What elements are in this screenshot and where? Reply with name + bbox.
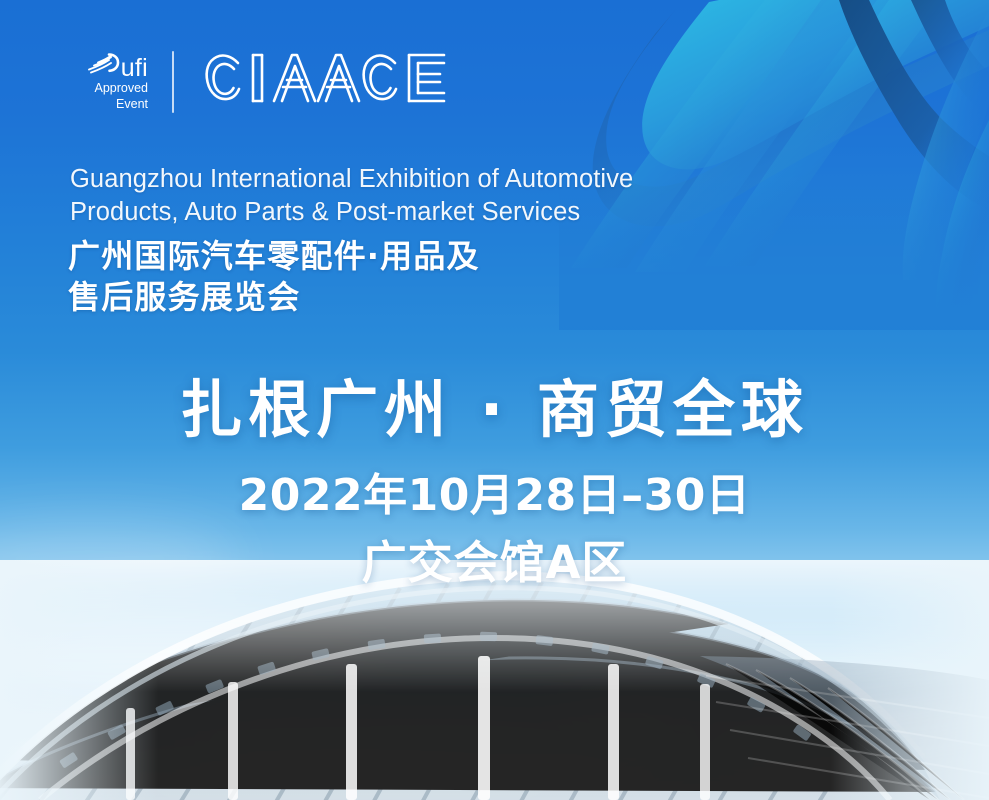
convention-center-building — [0, 560, 989, 800]
ciaace-logo — [196, 46, 454, 117]
header-divider — [172, 51, 174, 113]
chinese-subtitle: 广州国际汽车零配件·用品及 售后服务展览会 — [68, 236, 480, 318]
event-date: 2022年10月28日–30日 — [0, 468, 989, 524]
ufi-wordmark: ufi — [121, 57, 148, 80]
english-title: Guangzhou International Exhibition of Au… — [70, 163, 633, 229]
ufi-approved-event-logo: ufi Approved Event — [62, 51, 148, 112]
english-title-line2: Products, Auto Parts & Post-market Servi… — [70, 196, 633, 229]
slogan-headline: 扎根广州 · 商贸全球 — [0, 374, 989, 446]
header: ufi Approved Event — [62, 46, 454, 117]
ufi-event-label: Event — [116, 97, 148, 112]
event-poster: ufi Approved Event — [0, 0, 989, 800]
ufi-approved-label: Approved — [94, 81, 148, 96]
event-venue: 广交会馆A区 — [0, 534, 989, 592]
chinese-subtitle-line1: 广州国际汽车零配件·用品及 — [68, 236, 480, 277]
english-title-line1: Guangzhou International Exhibition of Au… — [70, 163, 633, 196]
ufi-swoosh-icon — [87, 51, 120, 80]
chinese-subtitle-line2: 售后服务展览会 — [68, 277, 480, 318]
